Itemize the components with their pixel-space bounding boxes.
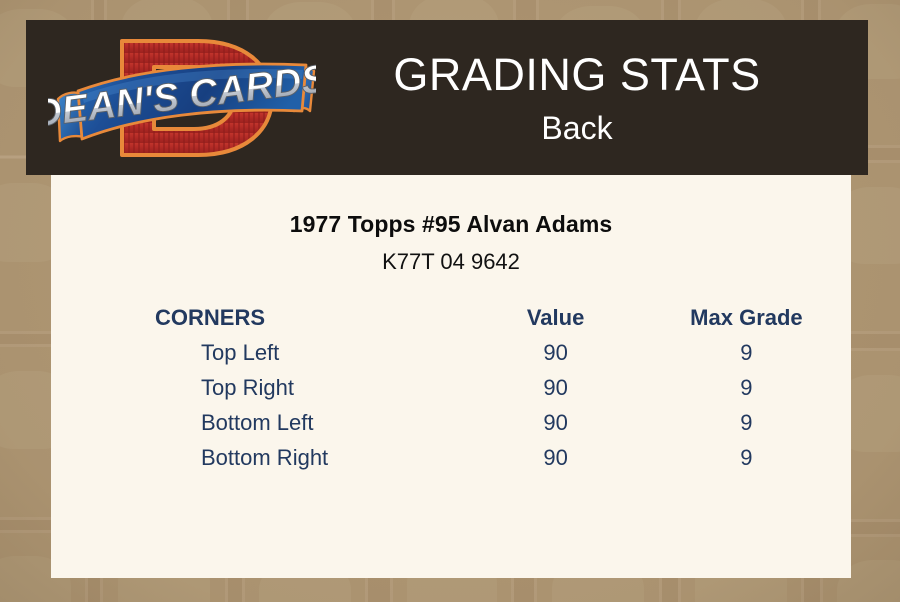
grading-stats-table: CORNERS Value Max Grade Top Left 90 9 To… bbox=[51, 300, 851, 475]
table-header-row: CORNERS Value Max Grade bbox=[51, 300, 851, 335]
deans-cards-logo: DEAN'S CARDS bbox=[48, 23, 316, 173]
page-subtitle: Back bbox=[316, 112, 838, 144]
row-value: 90 bbox=[469, 405, 642, 440]
table-header-max-grade: Max Grade bbox=[642, 300, 851, 335]
card-serial-number: K77T 04 9642 bbox=[51, 249, 851, 275]
row-value: 90 bbox=[469, 335, 642, 370]
row-label: Top Right bbox=[51, 370, 469, 405]
table-row: Top Right 90 9 bbox=[51, 370, 851, 405]
table-row: Top Left 90 9 bbox=[51, 335, 851, 370]
row-max-grade: 9 bbox=[642, 370, 851, 405]
table-body: Top Left 90 9 Top Right 90 9 Bottom Left… bbox=[51, 335, 851, 475]
card-title: 1977 Topps #95 Alvan Adams bbox=[51, 211, 851, 238]
row-max-grade: 9 bbox=[642, 440, 851, 475]
table-section-label: CORNERS bbox=[51, 300, 469, 335]
page-title: GRADING STATS bbox=[316, 52, 838, 97]
content-panel: 1977 Topps #95 Alvan Adams K77T 04 9642 … bbox=[51, 175, 851, 578]
row-max-grade: 9 bbox=[642, 405, 851, 440]
row-label: Bottom Right bbox=[51, 440, 469, 475]
row-label: Top Left bbox=[51, 335, 469, 370]
row-value: 90 bbox=[469, 440, 642, 475]
row-label: Bottom Left bbox=[51, 405, 469, 440]
row-value: 90 bbox=[469, 370, 642, 405]
table-row: Bottom Right 90 9 bbox=[51, 440, 851, 475]
table-header-value: Value bbox=[469, 300, 642, 335]
header-titles: GRADING STATS Back bbox=[316, 52, 868, 144]
row-max-grade: 9 bbox=[642, 335, 851, 370]
table-row: Bottom Left 90 9 bbox=[51, 405, 851, 440]
header-bar: DEAN'S CARDS GRADING STATS Back bbox=[26, 20, 868, 175]
